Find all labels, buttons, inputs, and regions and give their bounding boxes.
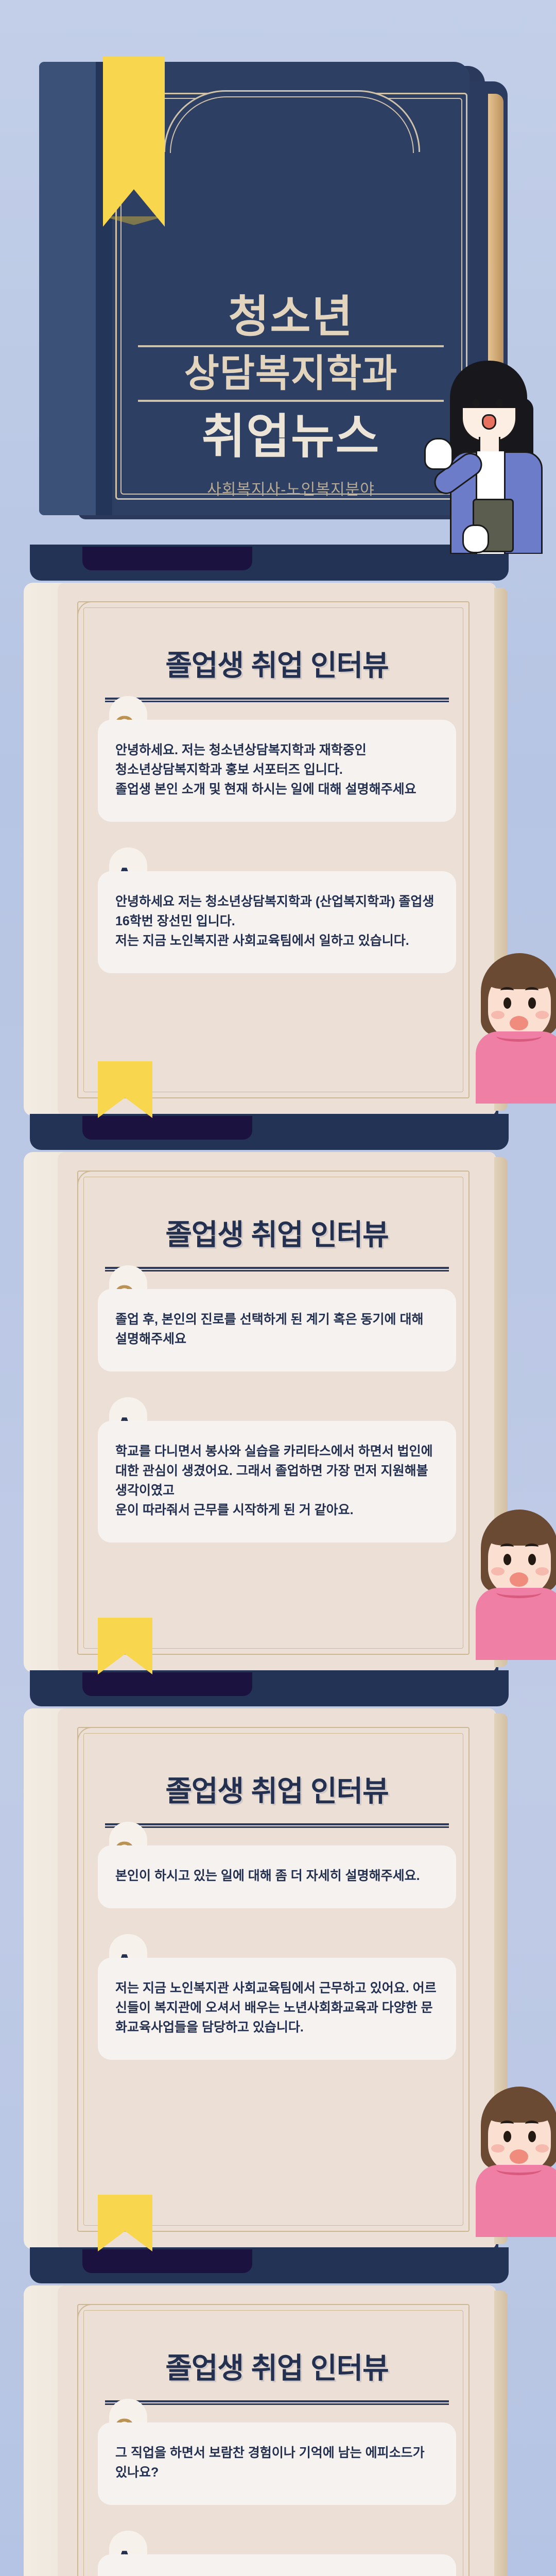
question-block: Q. 그 직업을 하면서 보람찬 경험이나 기억에 남는 에피소드가 있나요? xyxy=(98,2422,456,2505)
page-body: 졸업생 취업 인터뷰 Q. 그 직업을 하면서 보람찬 경험이나 기억에 남는 … xyxy=(0,2285,556,2576)
question-text: 졸업 후, 본인의 진로를 선택하게 된 계기 혹은 동기에 대해 설명해주세요 xyxy=(98,1289,456,1371)
page-right-leaf: 졸업생 취업 인터뷰 Q. 본인이 하시고 있는 일에 대해 좀 더 자세히 설… xyxy=(58,1708,496,2249)
answer-block: A. 저는 지금 노인복지관 사회교육팀에서 근무하고 있어요. 어르신들이 복… xyxy=(98,1958,456,2060)
page-body: 졸업생 취업 인터뷰 Q. 안녕하세요. 저는 청소년상담복지학과 재학중인 청… xyxy=(0,583,556,1116)
answer-text: 학교를 다니면서 봉사와 실습을 카리타스에서 하면서 법인에 대한 관심이 생… xyxy=(98,1421,456,1543)
interview-card-2: 졸업생 취업 인터뷰 Q. 졸업 후, 본인의 진로를 선택하게 된 계기 혹은… xyxy=(0,1123,556,1680)
title-divider-bottom xyxy=(138,400,444,402)
card-title-rule xyxy=(105,1823,449,1828)
page-right-leaf: 졸업생 취업 인터뷰 Q. 그 직업을 하면서 보람찬 경험이나 기억에 남는 … xyxy=(58,2285,496,2576)
card-title: 졸업생 취업 인터뷰 xyxy=(58,1152,496,1253)
answer-block: A. 학교를 다니면서 봉사와 실습을 카리타스에서 하면서 법인에 대한 관심… xyxy=(98,1421,456,1543)
interview-card-3: 졸업생 취업 인터뷰 Q. 본인이 하시고 있는 일에 대해 좀 더 자세히 설… xyxy=(0,1680,556,2257)
question-text: 안녕하세요. 저는 청소년상담복지학과 재학중인 청소년상담복지학과 홍보 서포… xyxy=(98,720,456,822)
title-divider-top xyxy=(138,345,444,347)
interview-card-1: 졸업생 취업 인터뷰 Q. 안녕하세요. 저는 청소년상담복지학과 재학중인 청… xyxy=(0,554,556,1123)
book-spine-shadow xyxy=(82,547,252,570)
question-block: Q. 본인이 하시고 있는 일에 대해 좀 더 자세히 설명해주세요. xyxy=(98,1845,456,1908)
card-title: 졸업생 취업 인터뷰 xyxy=(58,2285,496,2387)
student-character-icon xyxy=(481,1510,556,1664)
question-text: 본인이 하시고 있는 일에 대해 좀 더 자세히 설명해주세요. xyxy=(98,1845,456,1908)
answer-text: 저는 지금 노인복지관 사회교육팀에서 근무하고 있어요. 어르신들이 복지관에… xyxy=(98,1958,456,2060)
cover-title-group: 청소년 상담복지학과 취업뉴스 사회복지사-노인복지분야 xyxy=(124,294,458,499)
card-title: 졸업생 취업 인터뷰 xyxy=(58,1708,496,1810)
answer-text: 처음 노년사회화교육 업무를 담당하면서 일 년이 어떻게 지나간지 모를 만큼… xyxy=(98,2554,456,2576)
header-book-cover: 청소년 상담복지학과 취업뉴스 사회복지사-노인복지분야 xyxy=(0,0,556,554)
page-right-leaf: 졸업생 취업 인터뷰 Q. 졸업 후, 본인의 진로를 선택하게 된 계기 혹은… xyxy=(58,1152,496,1672)
book-spine-shadow xyxy=(82,1672,252,1696)
book-spine-shadow xyxy=(82,2249,252,2273)
page-body: 졸업생 취업 인터뷰 Q. 본인이 하시고 있는 일에 대해 좀 더 자세히 설… xyxy=(0,1708,556,2249)
cover-arch-inner xyxy=(170,96,414,153)
card-title-rule xyxy=(105,698,449,702)
title-line-2: 상담복지학과 xyxy=(124,352,458,394)
answer-block: A. 처음 노년사회화교육 업무를 담당하면서 일 년이 어떻게 지나간지 모를… xyxy=(98,2554,456,2576)
question-text: 그 직업을 하면서 보람찬 경험이나 기억에 남는 에피소드가 있나요? xyxy=(98,2422,456,2505)
card-title-rule xyxy=(105,1267,449,1272)
book-spine xyxy=(39,62,96,515)
question-block: Q. 졸업 후, 본인의 진로를 선택하게 된 계기 혹은 동기에 대해 설명해… xyxy=(98,1289,456,1371)
student-character-icon xyxy=(481,2087,556,2241)
page-body: 졸업생 취업 인터뷰 Q. 졸업 후, 본인의 진로를 선택하게 된 계기 혹은… xyxy=(0,1152,556,1672)
question-block: Q. 안녕하세요. 저는 청소년상담복지학과 재학중인 청소년상담복지학과 홍보… xyxy=(98,720,456,822)
student-character-icon xyxy=(481,953,556,1108)
book-spine-shadow xyxy=(82,1116,252,1140)
interview-card-4: 졸업생 취업 인터뷰 Q. 그 직업을 하면서 보람찬 경험이나 기억에 남는 … xyxy=(0,2257,556,2576)
answer-block: A. 안녕하세요 저는 청소년상담복지학과 (산업복지학과) 졸업생 16학번 … xyxy=(98,871,456,973)
page-right-leaf: 졸업생 취업 인터뷰 Q. 안녕하세요. 저는 청소년상담복지학과 재학중인 청… xyxy=(58,583,496,1116)
cover-subtitle: 사회복지사-노인복지분야 xyxy=(124,477,458,499)
card-title-rule xyxy=(105,2400,449,2405)
title-line-1: 청소년 xyxy=(124,294,458,340)
answer-text: 안녕하세요 저는 청소년상담복지학과 (산업복지학과) 졸업생 16학번 장선민… xyxy=(98,871,456,973)
title-line-3: 취업뉴스 xyxy=(124,411,458,463)
card-title: 졸업생 취업 인터뷰 xyxy=(58,583,496,684)
female-student-thumbsup-icon xyxy=(423,361,552,554)
